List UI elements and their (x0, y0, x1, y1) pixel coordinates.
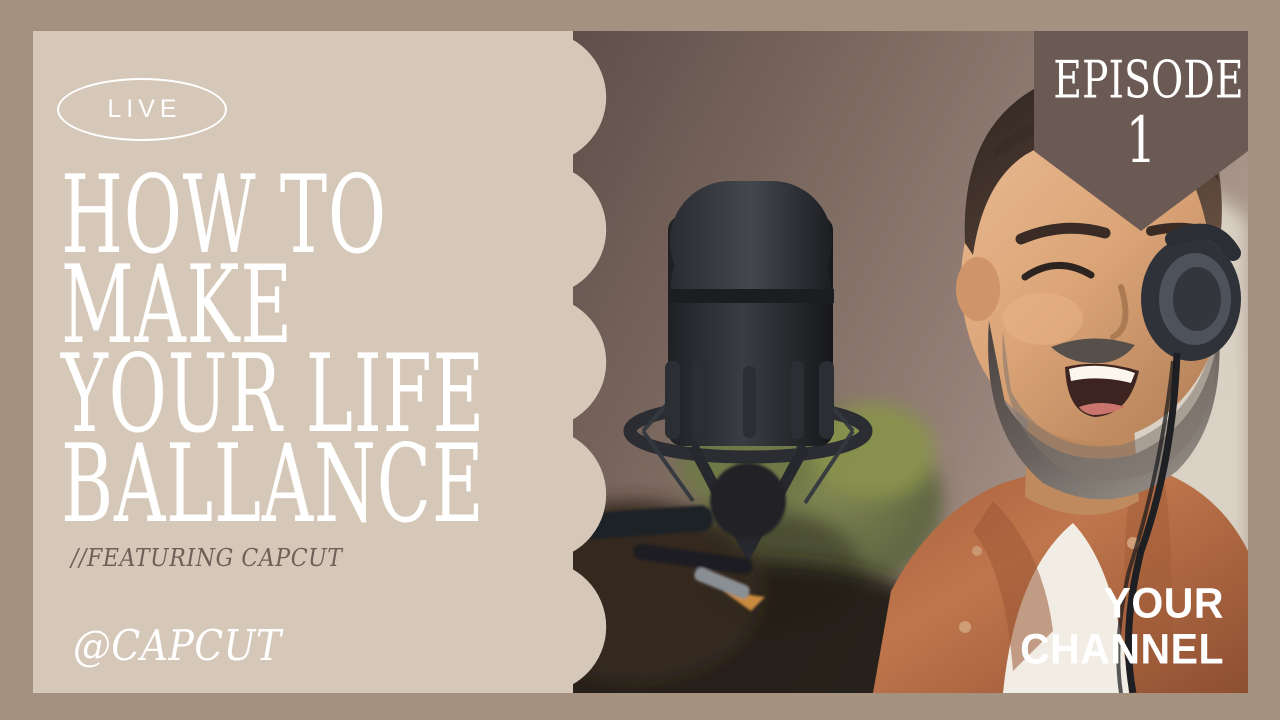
channel-wordmark-line-1: YOUR (1020, 582, 1224, 625)
live-badge-label: LIVE (102, 95, 181, 124)
headline: HOW TO MAKE YOUR LIFE BALLANCE (61, 175, 551, 534)
inner-canvas: LIVE HOW TO MAKE YOUR LIFE BALLANCE //FE… (33, 31, 1248, 693)
channel-wordmark: YOUR CHANNEL (1020, 584, 1224, 671)
featuring-credit: //FEATURING CAPCUT (71, 544, 343, 572)
thumbnail-canvas: LIVE HOW TO MAKE YOUR LIFE BALLANCE //FE… (0, 0, 1280, 720)
social-handle: @CAPCUT (73, 621, 282, 670)
channel-wordmark-line-2: CHANNEL (1020, 628, 1224, 671)
episode-badge-number: 1 (1055, 109, 1226, 173)
live-badge: LIVE (57, 78, 227, 141)
headline-line-4: BALLANCE (61, 439, 424, 529)
episode-badge-label: EPISODE (1053, 50, 1228, 110)
